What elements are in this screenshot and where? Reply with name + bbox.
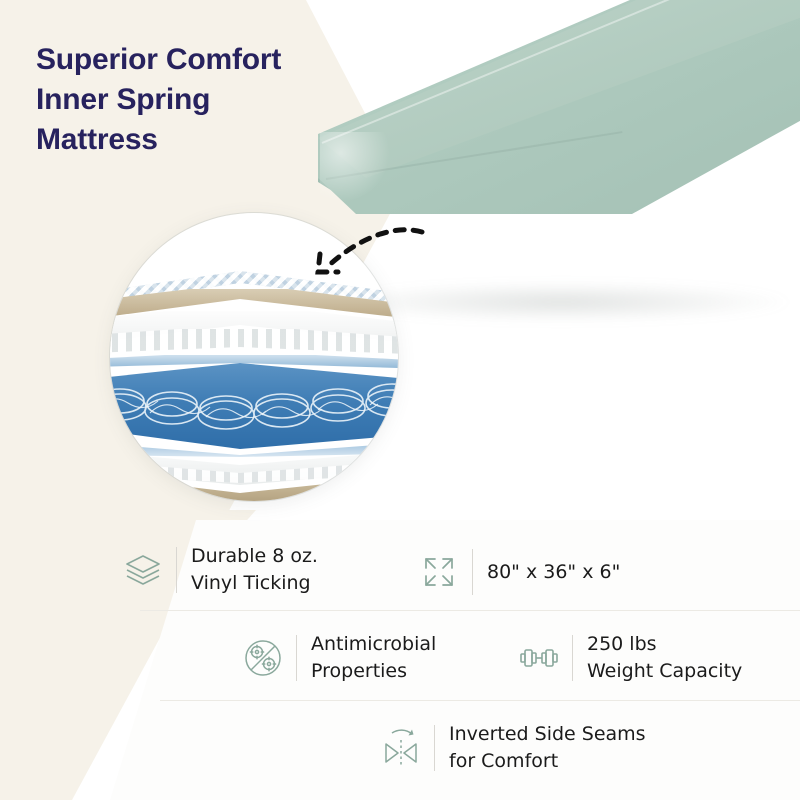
coil-springs-svg bbox=[110, 363, 398, 449]
dumbbell-icon bbox=[508, 628, 570, 688]
feature-weight-capacity: 250 lbs Weight Capacity bbox=[508, 628, 742, 688]
feature-dimensions: 80" x 36" x 6" bbox=[408, 542, 620, 602]
feature-label-line1: Antimicrobial bbox=[311, 633, 436, 655]
feature-label-line1: Inverted Side Seams bbox=[449, 723, 646, 745]
no-germs-icon bbox=[232, 628, 294, 688]
feature-vertical-rule bbox=[434, 725, 435, 771]
feature-label-line2: Vinyl Ticking bbox=[191, 570, 318, 597]
feature-label-line2: for Comfort bbox=[449, 748, 646, 775]
feature-label: Antimicrobial Properties bbox=[311, 631, 436, 685]
page-title: Superior Comfort Inner Spring Mattress bbox=[36, 40, 366, 160]
feature-label-line2: Weight Capacity bbox=[587, 658, 742, 685]
layer-innerspring-coils bbox=[110, 363, 398, 449]
feature-label: Inverted Side Seams for Comfort bbox=[449, 721, 646, 775]
feature-label-line1: 80" x 36" x 6" bbox=[487, 561, 620, 583]
title-line-3: Mattress bbox=[36, 120, 366, 160]
expand-arrows-icon bbox=[408, 542, 470, 602]
feature-antimicrobial: Antimicrobial Properties bbox=[232, 628, 436, 688]
feature-label: Durable 8 oz. Vinyl Ticking bbox=[191, 543, 318, 597]
feature-vertical-rule bbox=[296, 635, 297, 681]
title-line-1: Superior Comfort bbox=[36, 40, 366, 80]
feature-divider-line-1 bbox=[140, 610, 800, 611]
feature-vertical-rule bbox=[472, 549, 473, 595]
feature-label-line2: Properties bbox=[311, 658, 436, 685]
feature-vertical-rule bbox=[176, 547, 177, 593]
product-infographic: Superior Comfort Inner Spring Mattress bbox=[0, 0, 800, 800]
feature-vertical-rule bbox=[572, 635, 573, 681]
flip-seams-icon bbox=[370, 718, 432, 778]
layers-icon bbox=[112, 540, 174, 600]
feature-divider-line-2 bbox=[160, 700, 800, 701]
feature-label: 80" x 36" x 6" bbox=[487, 559, 620, 586]
feature-label-line1: Durable 8 oz. bbox=[191, 545, 318, 567]
title-line-2: Inner Spring bbox=[36, 80, 366, 120]
feature-list: Durable 8 oz. Vinyl Ticking bbox=[0, 516, 800, 800]
feature-label-line1: 250 lbs bbox=[587, 633, 657, 655]
feature-inverted-seams: Inverted Side Seams for Comfort bbox=[370, 718, 646, 778]
feature-vinyl-ticking: Durable 8 oz. Vinyl Ticking bbox=[112, 540, 318, 600]
feature-label: 250 lbs Weight Capacity bbox=[587, 631, 742, 685]
callout-dashed-arrow bbox=[286, 210, 436, 300]
